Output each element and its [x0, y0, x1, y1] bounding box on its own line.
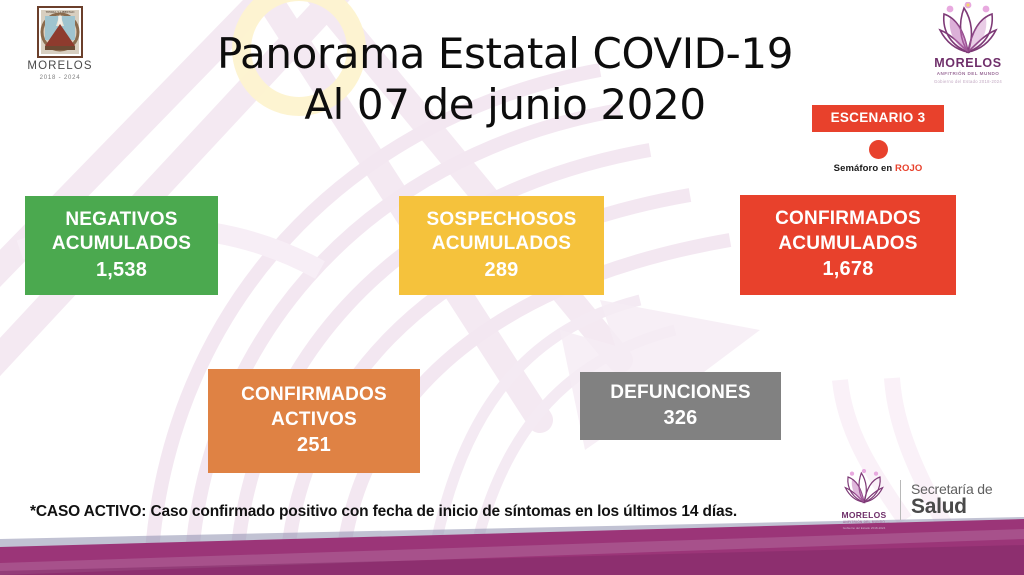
stat-card-confirmados-activos: CONFIRMADOS ACTIVOS 251 — [208, 369, 420, 473]
brand-subline: Gobierno del Estado 2018-2024 — [924, 79, 1012, 84]
brand-tagline: ANFITRIÓN DEL MUNDO — [924, 72, 1012, 77]
logo-divider — [900, 480, 901, 520]
brand-word: MORELOS — [924, 57, 1012, 70]
slide-canvas: TIERRA Y LIBERTAD MORELOS 2018 - 2024 — [0, 0, 1024, 575]
stat-value: 326 — [664, 406, 698, 432]
escenario-badge: ESCENARIO 3 — [812, 105, 944, 132]
morelos-state-logo: TIERRA Y LIBERTAD MORELOS 2018 - 2024 — [17, 6, 103, 81]
secretaria-label: Secretaría de — [911, 482, 992, 497]
stat-card-negativos: NEGATIVOS ACUMULADOS 1,538 — [25, 196, 218, 295]
stat-label: NEGATIVOS ACUMULADOS — [52, 208, 191, 257]
footer-brand-tagline: ANFITRIÓN DEL MUNDO — [834, 521, 894, 524]
stat-label: SOSPECHOSOS ACUMULADOS — [426, 208, 576, 257]
stat-label: CONFIRMADOS ACUMULADOS — [775, 207, 921, 256]
semaforo-prefix: Semáforo en — [834, 163, 895, 174]
semaforo-color-word: ROJO — [895, 163, 922, 174]
semaforo-status: Semáforo en ROJO — [812, 164, 944, 174]
stat-value: 251 — [297, 433, 331, 459]
stat-card-defunciones: DEFUNCIONES 326 — [580, 372, 781, 440]
morelos-bougainvillea-icon — [930, 2, 1006, 56]
state-logo-years: 2018 - 2024 — [17, 75, 103, 81]
title-line-2: Al 07 de junio 2020 — [160, 79, 850, 130]
red-traffic-light-dot-icon — [869, 140, 888, 159]
footer-brand-subline: Gobierno del Estado 2018-2024 — [834, 527, 894, 531]
morelos-brand-logo: MORELOS ANFITRIÓN DEL MUNDO Gobierno del… — [924, 2, 1012, 84]
stat-label: DEFUNCIONES — [610, 381, 751, 405]
secretaria-de-salud-logo: MORELOS ANFITRIÓN DEL MUNDO Gobierno del… — [834, 472, 1010, 528]
footer-brand: MORELOS ANFITRIÓN DEL MUNDO Gobierno del… — [834, 469, 894, 530]
stat-value: 1,538 — [96, 258, 147, 284]
stat-card-confirmados: CONFIRMADOS ACUMULADOS 1,678 — [740, 195, 956, 295]
morelos-coat-of-arms-icon: TIERRA Y LIBERTAD — [37, 6, 83, 58]
stat-value: 1,678 — [822, 257, 873, 283]
stat-label: CONFIRMADOS ACTIVOS — [241, 383, 387, 432]
stat-value: 289 — [485, 258, 519, 284]
state-logo-name: MORELOS — [17, 61, 103, 73]
svg-text:TIERRA Y LIBERTAD: TIERRA Y LIBERTAD — [45, 10, 75, 14]
footnote-text: *CASO ACTIVO: Caso confirmado positivo c… — [30, 503, 737, 521]
salud-label: Salud — [911, 496, 992, 518]
page-title: Panorama Estatal COVID-19 Al 07 de junio… — [160, 28, 850, 130]
salud-wordmark: Secretaría de Salud — [911, 482, 992, 519]
morelos-bougainvillea-icon — [838, 469, 890, 505]
stat-card-sospechosos: SOSPECHOSOS ACUMULADOS 289 — [399, 196, 604, 295]
escenario-block: ESCENARIO 3 Semáforo en ROJO — [812, 105, 944, 173]
footer-brand-word: MORELOS — [834, 511, 894, 520]
title-line-1: Panorama Estatal COVID-19 — [160, 28, 850, 79]
